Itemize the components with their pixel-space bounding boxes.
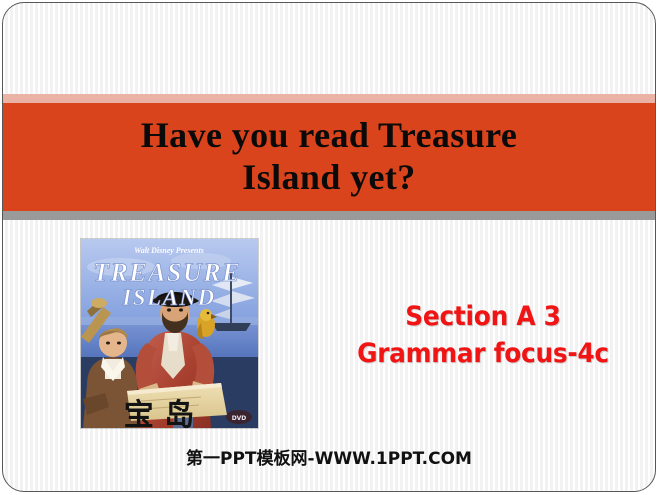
svg-text:DVD: DVD <box>232 415 247 422</box>
cover-artwork: Walt Disney Presents TREASURE ISLAND 宝 岛… <box>81 239 258 428</box>
svg-text:ISLAND: ISLAND <box>121 285 215 310</box>
svg-text:TREASURE: TREASURE <box>93 258 241 287</box>
cover-illustration: Walt Disney Presents TREASURE ISLAND 宝 岛… <box>81 239 258 428</box>
slide-title: Have you read Treasure Island yet? <box>3 103 655 211</box>
title-banner: Have you read Treasure Island yet? <box>3 94 655 220</box>
slide-card-background: Have you read Treasure Island yet? <box>2 2 656 492</box>
slide-title-line-1: Have you read Treasure <box>141 115 517 157</box>
section-label-line-1: Section A 3 <box>345 299 621 336</box>
section-label: Section A 3 Grammar focus-4c <box>345 299 621 372</box>
footer-watermark: 第一PPT模板网-WWW.1PPT.COM <box>3 444 655 469</box>
svg-text:Walt Disney Presents: Walt Disney Presents <box>134 246 204 255</box>
presentation-slide: Have you read Treasure Island yet? <box>0 0 660 495</box>
banner-bottom-gray-stripe <box>3 211 655 220</box>
slide-title-line-2: Island yet? <box>242 157 415 199</box>
banner-top-pink-stripe <box>3 94 655 103</box>
cover-chinese-title: 宝 岛 <box>124 398 194 428</box>
dvd-badge-icon: DVD <box>226 410 252 424</box>
section-label-line-2: Grammar focus-4c <box>345 336 621 373</box>
treasure-island-dvd-cover-image: Walt Disney Presents TREASURE ISLAND 宝 岛… <box>81 239 258 428</box>
